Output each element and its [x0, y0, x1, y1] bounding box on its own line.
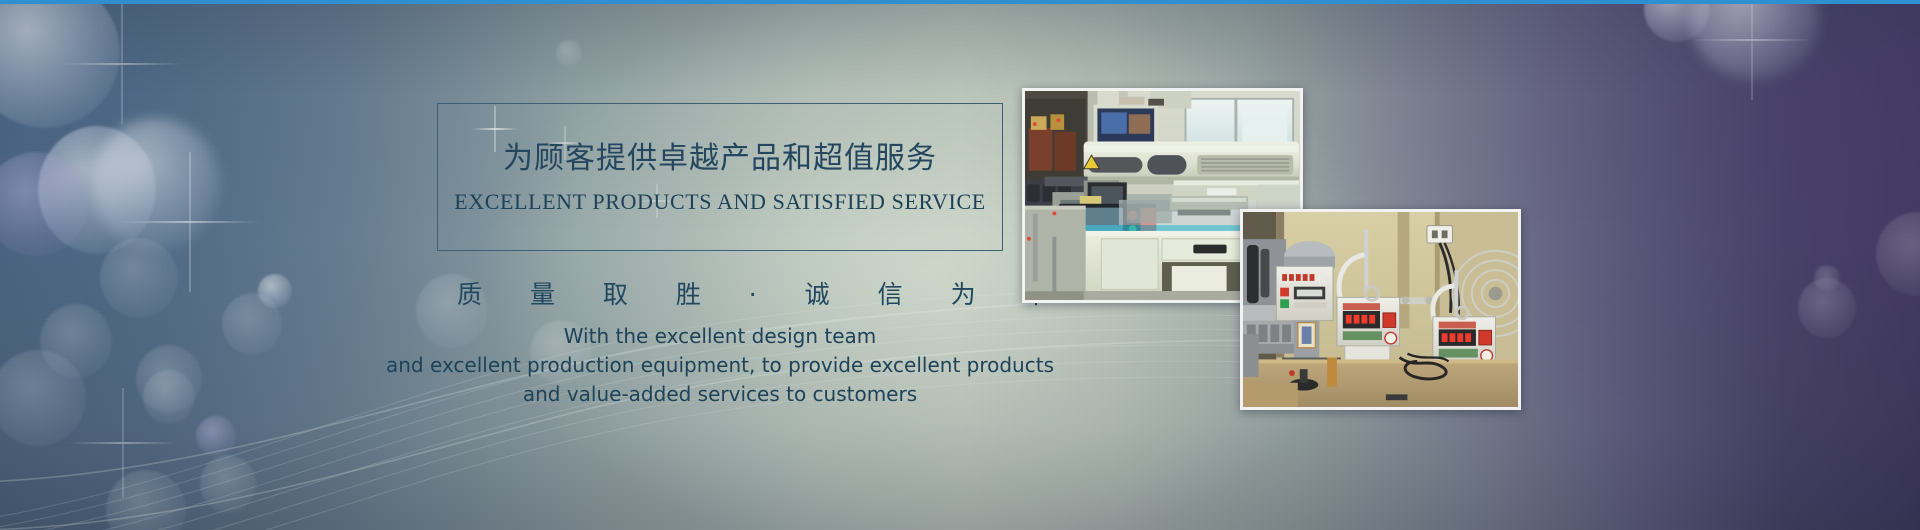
description-paragraph: With the excellent design team and excel…	[370, 322, 1070, 409]
description-line-2: and excellent production equipment, to p…	[370, 351, 1070, 380]
headline-english: EXCELLENT PRODUCTS AND SATISFIED SERVICE	[437, 189, 1003, 215]
bokeh-circle	[1876, 212, 1920, 296]
bokeh-circle	[1814, 265, 1840, 291]
headline-chinese: 为顾客提供卓越产品和超值服务	[437, 133, 1003, 177]
top-accent-rule	[0, 0, 1920, 4]
company-slogan-banner: 为顾客提供卓越产品和超值服务 EXCELLENT PRODUCTS AND SA…	[0, 0, 1920, 530]
bokeh-circle	[0, 0, 120, 128]
description-line-3: and value-added services to customers	[370, 380, 1070, 409]
photo-2-artwork	[1243, 212, 1518, 407]
bokeh-circle	[556, 40, 582, 66]
headline-frame	[437, 103, 1003, 251]
slogan-chinese: 质 量 取 胜 · 诚 信 为 本	[437, 275, 1003, 311]
bokeh-circle	[1690, 0, 1820, 80]
description-line-1: With the excellent design team	[370, 322, 1070, 351]
photo-workshop-press-machines	[1240, 209, 1521, 410]
